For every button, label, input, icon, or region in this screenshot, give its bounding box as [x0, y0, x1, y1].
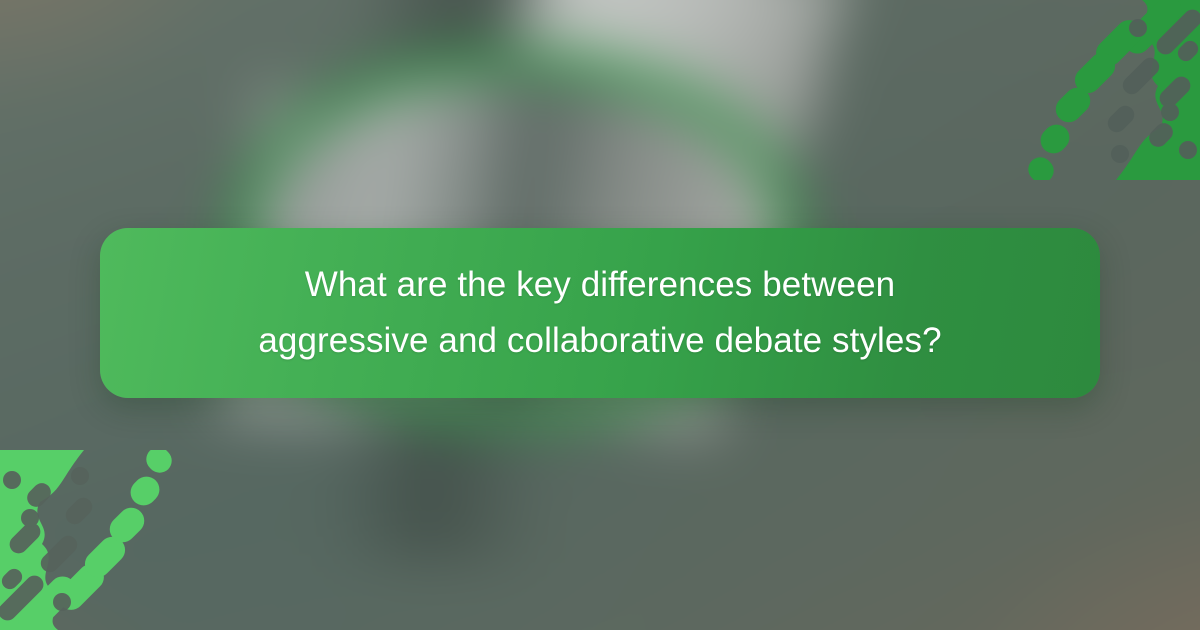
question-line-1: What are the key differences between — [305, 265, 896, 304]
question-text: What are the key differences between agg… — [258, 257, 941, 369]
question-line-2: aggressive and collaborative debate styl… — [258, 321, 941, 360]
corner-pattern-top-right-icon — [1020, 0, 1200, 180]
question-card: What are the key differences between agg… — [100, 228, 1100, 398]
corner-pattern-bottom-left-icon — [0, 450, 180, 630]
share-card-canvas: What are the key differences between agg… — [0, 0, 1200, 630]
